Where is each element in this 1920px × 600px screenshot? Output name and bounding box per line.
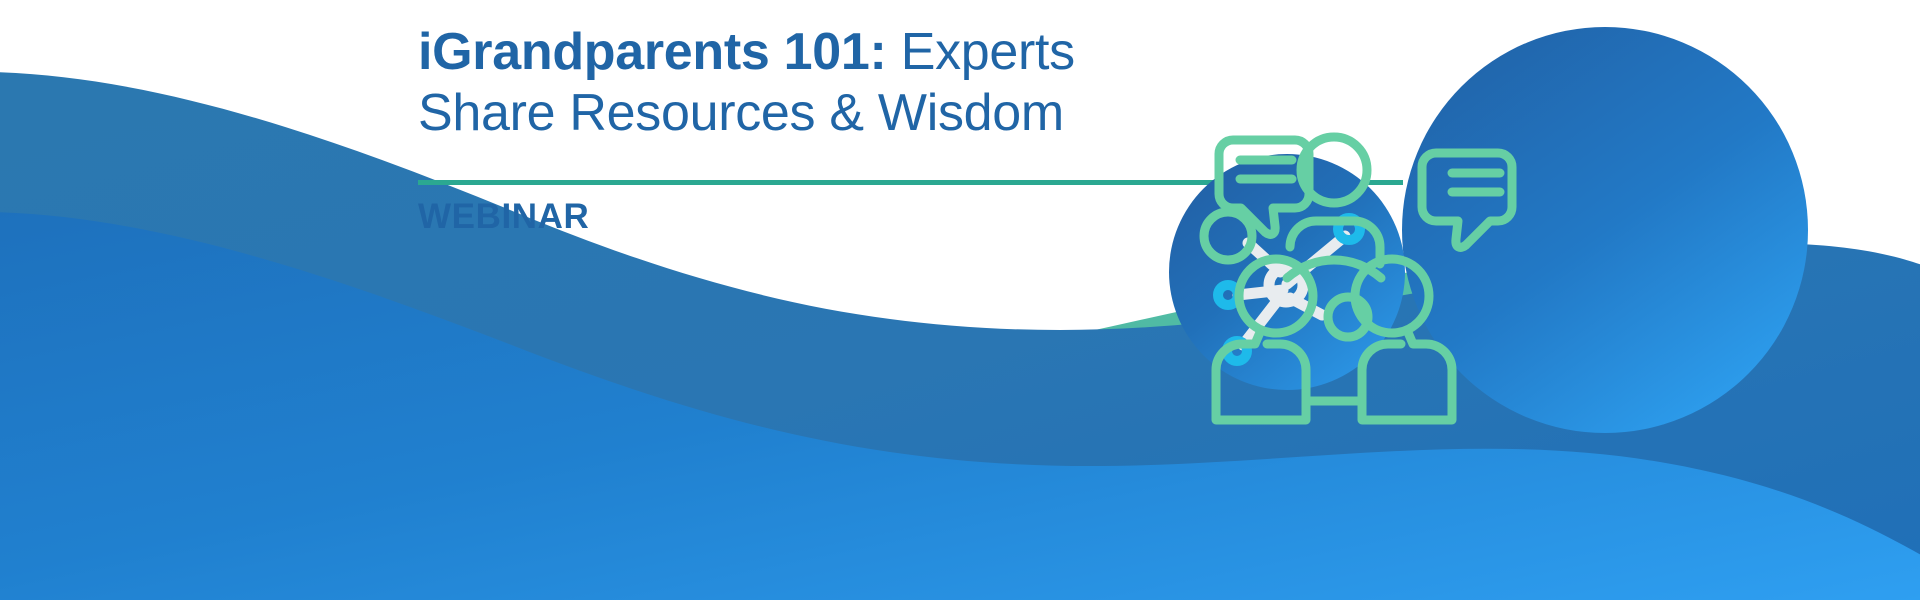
page-title-regular: Experts: [887, 23, 1075, 81]
webinar-banner: iGrandparents 101: Experts Share Resourc…: [0, 0, 1920, 600]
page-title-strong: iGrandparents 101:: [418, 23, 887, 81]
page-title: iGrandparents 101: Experts: [418, 22, 1418, 83]
headline-block: iGrandparents 101: Experts Share Resourc…: [418, 22, 1418, 144]
page-title-line2: Share Resources & Wisdom: [418, 83, 1418, 144]
webinar-label: WEBINAR: [418, 196, 589, 238]
divider-rule: [418, 180, 1403, 185]
